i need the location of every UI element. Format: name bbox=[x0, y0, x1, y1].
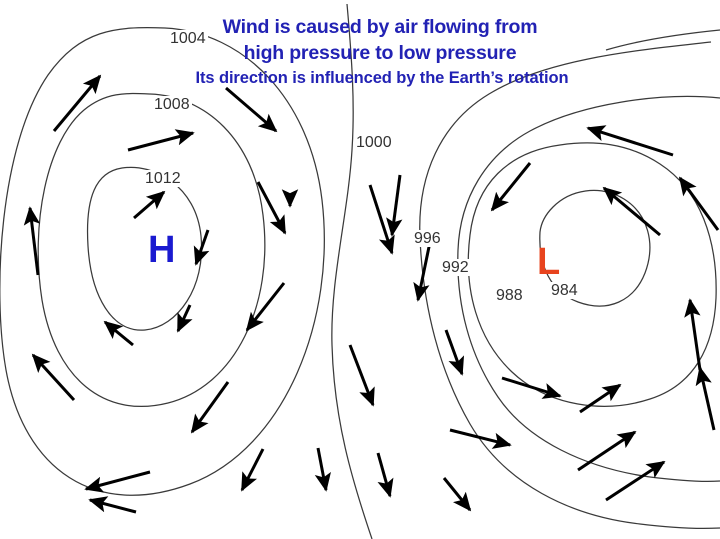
isobar-label-988: 988 bbox=[494, 287, 525, 304]
wind-arrow-l-mid-e bbox=[690, 300, 700, 370]
wind-arrow-l-inner-nw bbox=[492, 163, 530, 210]
isobar-label-996: 996 bbox=[412, 230, 443, 247]
wind-arrow-h-outer-s bbox=[90, 500, 136, 512]
wind-arrow-l-outer-e bbox=[700, 368, 714, 430]
isobar-988 bbox=[468, 143, 716, 406]
wind-arrow-l-inner-s bbox=[502, 378, 560, 396]
high-pressure-center-label: H bbox=[148, 231, 175, 269]
wind-arrow-l-inner-ne bbox=[604, 188, 660, 235]
wind-arrow-l-outer-ne bbox=[680, 178, 718, 230]
wind-arrow-h-mid-ne bbox=[226, 88, 276, 131]
low-pressure-center-label: L bbox=[537, 243, 560, 281]
wind-arrow-mid-lower bbox=[350, 345, 373, 405]
wind-arrow-h-inner-nw bbox=[134, 192, 164, 218]
isobar-1000 bbox=[332, 4, 372, 539]
wind-arrow-h-mid-se bbox=[192, 382, 228, 432]
wind-arrow-h-mid-s bbox=[86, 472, 150, 489]
wind-arrow-l-outer-s bbox=[606, 462, 664, 500]
pressure-map-canvas: Wind is caused by air flowing from high … bbox=[0, 0, 720, 539]
isobar-label-984: 984 bbox=[549, 282, 580, 299]
wind-arrow-mid-bottom2 bbox=[378, 453, 390, 496]
wind-arrow-l-outer-sw bbox=[444, 478, 470, 510]
isobar-diagram bbox=[0, 0, 720, 539]
isobar-label-1008: 1008 bbox=[152, 96, 192, 113]
wind-arrow-l-far-w bbox=[392, 175, 400, 235]
wind-arrow-l-mid-w bbox=[446, 330, 462, 374]
isobar-contour-group bbox=[0, 4, 720, 539]
isobar-1012 bbox=[88, 167, 202, 330]
wind-arrow-l-mid-se bbox=[578, 432, 635, 470]
isobar-label-1012: 1012 bbox=[143, 170, 183, 187]
wind-arrow-l-inner-se bbox=[580, 385, 620, 412]
wind-arrow-l-outer-w bbox=[418, 242, 430, 300]
wind-arrow-l-mid-sw bbox=[450, 430, 510, 445]
wind-arrow-h-outer-e bbox=[247, 283, 284, 330]
wind-arrow-h-outer-se bbox=[242, 449, 263, 490]
wind-arrow-h-mid-sw bbox=[33, 355, 74, 400]
isobar-label-1004: 1004 bbox=[168, 30, 208, 47]
isobar-label-992: 992 bbox=[440, 259, 471, 276]
wind-arrow-h-inner-e bbox=[196, 230, 208, 264]
wind-arrow-h-w bbox=[30, 208, 38, 275]
wind-arrow-mid-upper bbox=[370, 185, 392, 253]
wind-arrow-h-mid-n bbox=[128, 133, 193, 150]
isobar-label-1000: 1000 bbox=[354, 134, 394, 151]
wind-arrow-h-inner-se bbox=[178, 305, 190, 331]
wind-arrow-l-mid-n bbox=[588, 128, 673, 155]
wind-arrow-h-inner-sw bbox=[105, 322, 133, 345]
wind-arrow-mid-bottom1 bbox=[318, 448, 326, 490]
